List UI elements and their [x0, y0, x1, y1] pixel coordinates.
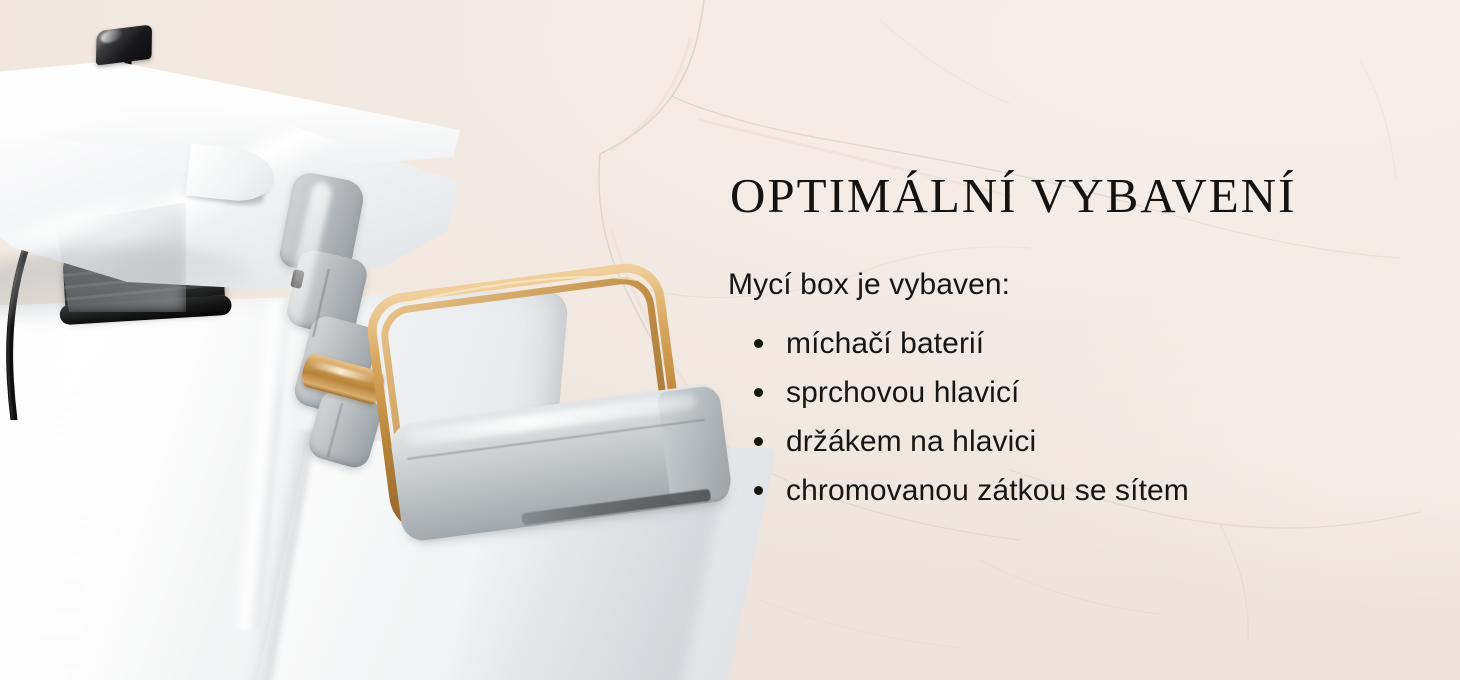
feature-label: chromovanou zátkou se sítem	[786, 474, 1189, 507]
feature-list: míchačí baterií sprchovou hlavicí držáke…	[728, 319, 1388, 515]
list-item: sprchovou hlavicí	[754, 368, 1388, 417]
bullet-icon	[754, 388, 763, 397]
intro-text: Mycí box je vybaven:	[728, 266, 1388, 304]
text-column: OPTIMÁLNÍ VYBAVENÍ Mycí box je vybaven: …	[728, 170, 1388, 515]
bullet-icon	[754, 437, 763, 446]
page-title: OPTIMÁLNÍ VYBAVENÍ	[730, 170, 1388, 222]
promo-banner: OPTIMÁLNÍ VYBAVENÍ Mycí box je vybaven: …	[0, 0, 1460, 680]
product-photo	[0, 0, 760, 680]
list-item: držákem na hlavici	[754, 417, 1388, 466]
feature-label: sprchovou hlavicí	[786, 376, 1019, 409]
bullet-icon	[754, 339, 763, 348]
bullet-icon	[754, 486, 763, 495]
basin-top-fitting	[96, 24, 152, 65]
feature-label: míchačí baterií	[786, 327, 984, 360]
feature-label: držákem na hlavici	[786, 425, 1036, 458]
list-item: míchačí baterií	[754, 319, 1388, 368]
list-item: chromovanou zátkou se sítem	[754, 466, 1388, 515]
